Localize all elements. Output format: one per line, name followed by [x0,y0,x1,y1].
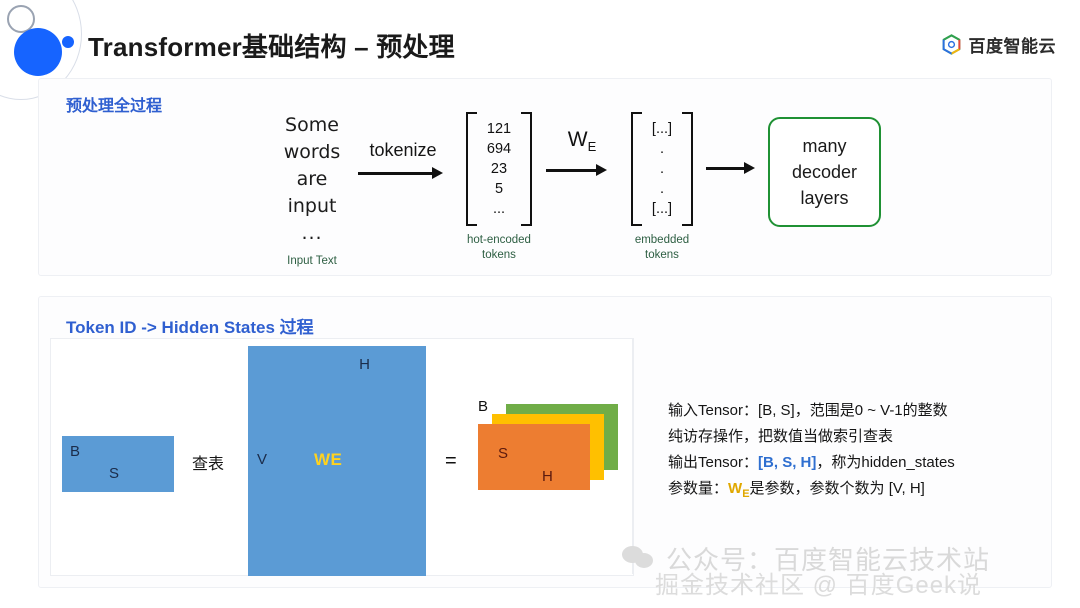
explanation-notes: 输入Tensor：[B, S]，范围是0 ~ V-1的整数 纯访存操作，把数值当… [668,398,1050,507]
note-line-3: 输出Tensor：[B, S, H]，称为hidden_states [668,450,1050,476]
decoder-layers-box: many decoder layers [768,117,881,227]
decoder-line: layers [792,185,857,211]
matrix-value: . [652,159,672,179]
input-tensor-box: B S [62,436,174,492]
matrix-value: ... [487,199,511,219]
output-tensor-stack: S H [478,404,618,496]
matrix-value: 5 [487,179,511,199]
slide-root: Transformer基础结构 – 预处理 百度智能云 预处理全过程 Some [0,0,1080,608]
embedded-values: [...] . . . [...] [644,112,680,226]
caption-line: tokens [620,248,704,263]
input-tensor-label-b: B [70,443,80,460]
tokenize-label: tokenize [358,140,448,161]
input-tensor-label-s: S [109,465,119,482]
brand-logo: 百度智能云 [941,32,1057,57]
equals-sign: = [445,450,457,473]
note-suffix: 是参数，参数个数为 [V, H] [750,480,925,497]
hot-encoded-caption: hot-encoded tokens [456,233,542,263]
matrix-value: 23 [487,159,511,179]
note-suffix: ，称为hidden_states [816,454,954,471]
note-line-1: 输入Tensor：[B, S]，范围是0 ~ V-1的整数 [668,398,1050,424]
stack-sheet-front [478,424,590,490]
arrow-right-icon [546,164,610,176]
note-prefix: 输出Tensor： [668,454,758,471]
lookup-label: 查表 [192,450,224,474]
note-prefix: 参数量： [668,480,728,497]
preprocessing-pipeline: Some words are input ... Input Text toke… [270,104,830,274]
embedded-tokens-block: [...] . . . [...] embedded tokens [620,112,704,263]
matrix-value: . [652,179,672,199]
we-highlight: WE [728,480,750,497]
we-letter: W [568,128,588,151]
embedding-weight-label: WE [546,128,618,154]
hot-encoded-tokens-block: 121 694 23 5 ... hot-encoded tokens [456,112,542,263]
matrix-value: 121 [487,119,511,139]
we-subscript: E [588,139,597,154]
input-line: input [270,193,354,220]
embedded-caption: embedded tokens [620,233,704,263]
we-letter: W [728,480,742,497]
output-stack-label-s: S [498,445,508,462]
to-decoder-arrow [706,162,766,174]
matrix-value: [...] [652,119,672,139]
slide-header: Transformer基础结构 – 预处理 百度智能云 [0,0,1080,74]
decoder-line: many [792,133,857,159]
embedded-matrix: [...] . . . [...] [631,112,693,226]
input-text-caption: Input Text [270,254,354,269]
we-matrix-label-we: WE [314,450,342,470]
embedding-weight-step: WE [546,128,618,176]
arrow-right-icon [706,162,758,174]
brand-name: 百度智能云 [969,32,1057,57]
tokenize-step: tokenize [358,140,448,179]
input-line: Some [270,112,354,139]
output-shape-highlight: [B, S, H] [758,454,816,471]
input-line: are [270,166,354,193]
matrix-value: [...] [652,199,672,219]
we-matrix-box: H V WE [248,346,426,576]
hot-encoded-values: 121 694 23 5 ... [479,112,519,226]
decoder-line: decoder [792,159,857,185]
decoder-box-body: many decoder layers [768,117,881,227]
note-line-4: 参数量：WE是参数，参数个数为 [V, H] [668,476,1050,507]
caption-line: embedded [620,233,704,248]
section-two-title: Token ID -> Hidden States 过程 [66,313,314,338]
we-matrix-label-v: V [257,451,267,468]
arrow-right-icon [358,167,446,179]
caption-line: tokens [456,248,542,263]
output-stack-label-h: H [542,468,553,485]
page-title: Transformer基础结构 – 预处理 [88,27,455,64]
section-one-title: 预处理全过程 [66,92,162,116]
baidu-cloud-hexagon-icon [941,34,962,55]
input-line: ... [270,220,354,247]
panel-divider [632,338,633,574]
matrix-value: . [652,139,672,159]
hot-encoded-matrix: 121 694 23 5 ... [466,112,532,226]
input-text-lines: Some words are input ... [270,112,354,247]
we-subscript: E [742,488,749,500]
we-matrix-label-h: H [359,356,370,373]
matrix-value: 694 [487,139,511,159]
caption-line: hot-encoded [456,233,542,248]
input-text-block: Some words are input ... Input Text [270,112,354,269]
input-line: words [270,139,354,166]
note-line-2: 纯访存操作，把数值当做索引查表 [668,424,1050,450]
